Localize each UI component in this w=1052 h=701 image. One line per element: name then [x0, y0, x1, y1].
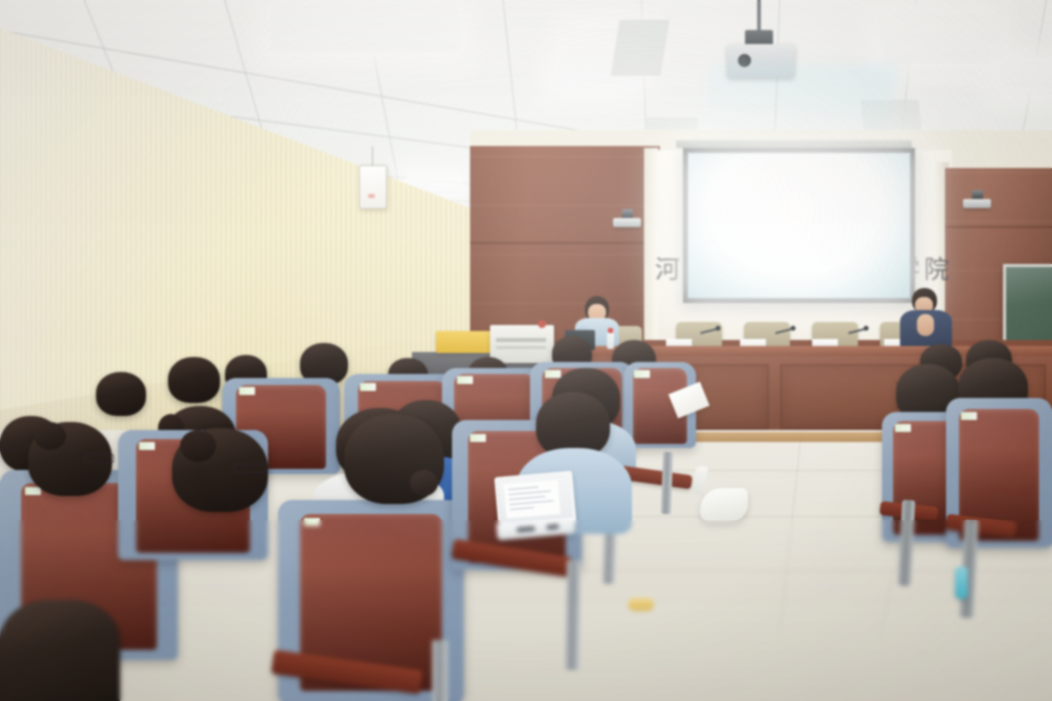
yellow-case — [436, 331, 496, 353]
eyeglasses-icon — [234, 464, 266, 473]
projection-screen-surface — [688, 153, 910, 298]
seat-leg — [432, 640, 448, 701]
air-vent-grille — [611, 20, 670, 76]
front-wall-wood-panel-left — [470, 146, 660, 352]
seat-number-label — [239, 387, 255, 395]
eyeglasses-icon — [0, 442, 28, 449]
seat-number-label — [304, 518, 320, 526]
screen-roller-bar — [676, 140, 912, 148]
shoe — [628, 598, 654, 611]
audience-member — [0, 600, 120, 701]
ceiling-light-panel — [876, 8, 1004, 63]
seat-number-label — [139, 442, 155, 450]
seat-number-label — [470, 434, 486, 442]
seat-number-label — [634, 370, 650, 378]
equipment-slot — [496, 338, 546, 342]
white-handbag — [700, 488, 748, 522]
ceiling-light-panel — [270, 0, 460, 52]
seat-number-label — [457, 376, 473, 384]
eyeglasses-icon — [84, 454, 114, 463]
open-laptop[interactable] — [494, 471, 574, 545]
laptop-document — [504, 480, 561, 519]
wall-camera-icon — [613, 218, 641, 227]
panelist — [900, 288, 952, 350]
seat-number-label — [961, 412, 977, 420]
equipment-indicator-icon — [538, 320, 546, 328]
seat-number-label — [360, 383, 376, 391]
audience-member — [96, 372, 146, 416]
seat-leg — [565, 560, 581, 670]
water-bottle — [955, 567, 968, 599]
photograph-lecture-hall: 河北 学院 — [0, 0, 1052, 701]
audience-member — [536, 392, 610, 458]
projection-screen — [683, 148, 915, 303]
audience-member — [168, 357, 220, 403]
equipment-slot — [496, 346, 546, 349]
panelist-hands — [917, 314, 934, 336]
audience-member — [172, 428, 268, 512]
seat-number-label — [895, 424, 911, 432]
audience-member — [28, 422, 112, 496]
wall-camera-icon — [963, 199, 991, 208]
laptop-key-row[interactable] — [547, 524, 559, 530]
audience-member — [344, 414, 444, 504]
wall-speaker — [359, 165, 387, 209]
speaker-led-icon — [368, 194, 375, 198]
ceiling-light-panel — [1000, 58, 1052, 88]
